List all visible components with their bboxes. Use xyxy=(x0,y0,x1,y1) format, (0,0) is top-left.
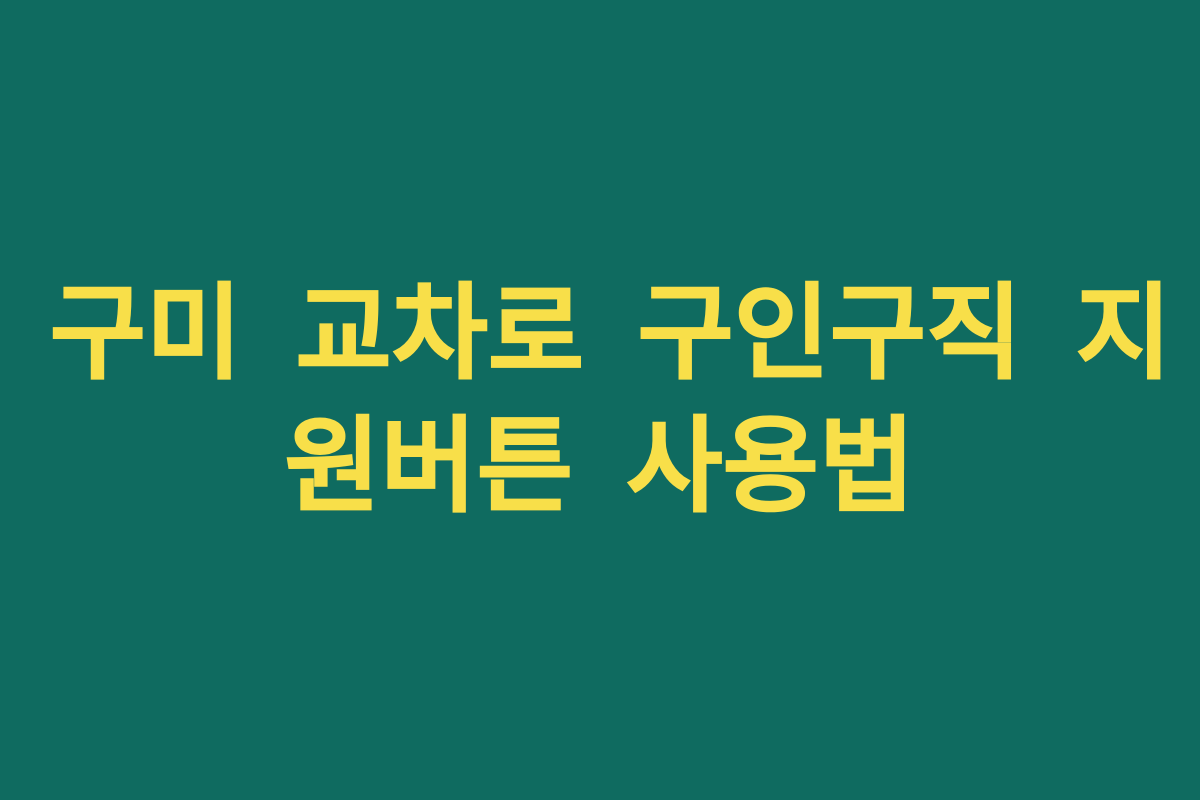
page-title-line-1: 구미 교차로 구인구직 지 xyxy=(50,266,1150,401)
thumbnail-card: 구미 교차로 구인구직 지 원버튼 사용법 xyxy=(0,0,1200,800)
page-title: 구미 교차로 구인구직 지 원버튼 사용법 xyxy=(50,266,1150,534)
page-title-line-2: 원버튼 사용법 xyxy=(50,399,1150,534)
